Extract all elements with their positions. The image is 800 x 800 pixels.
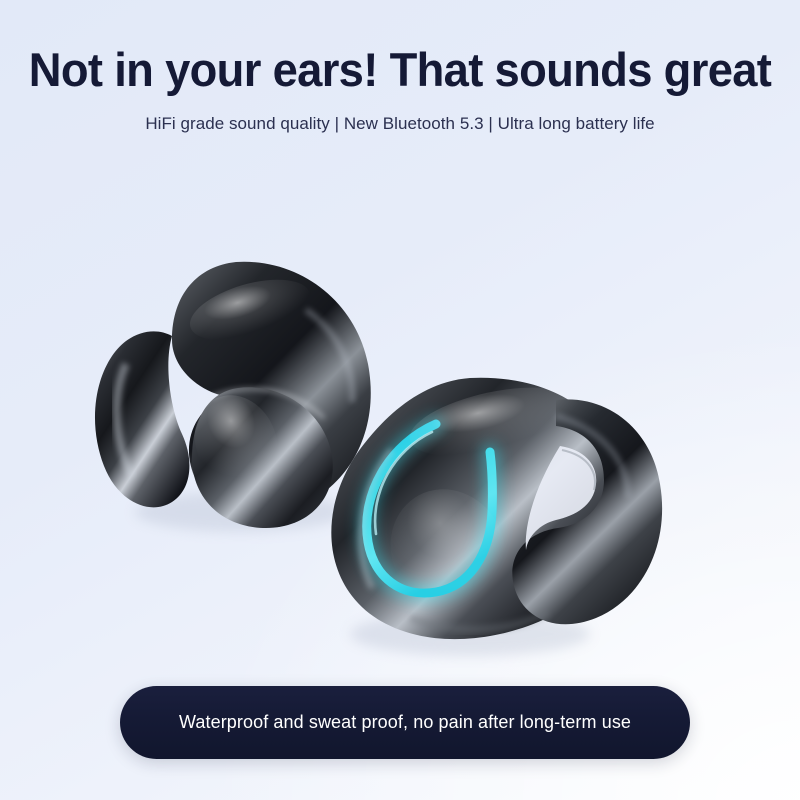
left-arc-limb (95, 331, 189, 507)
product-image (0, 150, 800, 670)
left-earbud-graphic (95, 262, 371, 532)
right-earbud-graphic (331, 375, 662, 656)
page-title: Not in your ears! That sounds great (14, 46, 786, 94)
status-banner-label: Waterproof and sweat proof, no pain afte… (179, 712, 631, 733)
product-poster: Not in your ears! That sounds great HiFi… (0, 0, 800, 800)
status-banner: Waterproof and sweat proof, no pain afte… (120, 686, 690, 759)
feature-subtitle: HiFi grade sound quality | New Bluetooth… (0, 114, 800, 134)
